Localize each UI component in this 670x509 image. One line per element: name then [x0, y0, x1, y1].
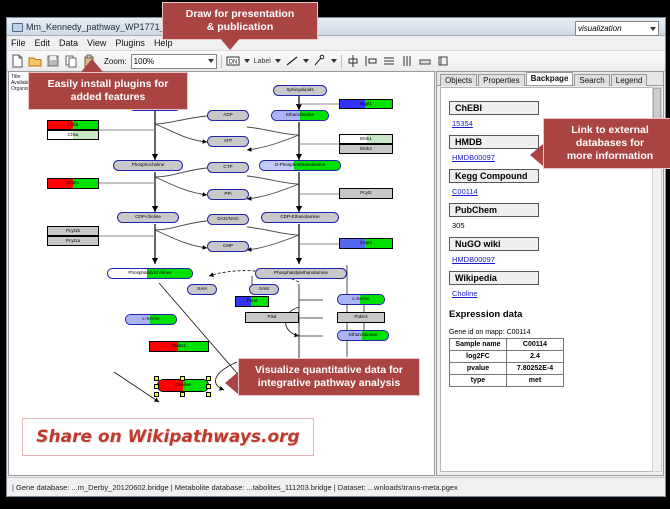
node-ethanolamine-top[interactable]: Ethanolamine — [271, 110, 329, 121]
node-label: Chka — [68, 133, 79, 138]
node-sphingolipids[interactable]: Sphingolipids — [273, 85, 327, 96]
node-pisd[interactable]: Pisd — [245, 312, 299, 323]
callout-links-line1: Link to external — [552, 124, 668, 137]
node-label: CTP — [223, 165, 232, 170]
menu-item-plugins[interactable]: Plugins — [115, 38, 145, 48]
menu-item-view[interactable]: View — [87, 38, 106, 48]
align-icon[interactable] — [346, 54, 360, 68]
link-wikipedia[interactable]: Choline — [452, 289, 644, 298]
node-ppi[interactable]: PPi — [207, 189, 249, 200]
callout-draw-arrow — [219, 37, 241, 50]
callout-plugins-line1: Easily install plugins for — [37, 78, 179, 91]
datanode-icon[interactable]: DN — [226, 54, 240, 68]
node-label: Phosphocholine — [132, 163, 165, 168]
toolbar-separator-2 — [341, 55, 342, 68]
table-row: type met — [450, 375, 564, 387]
node-ptdss1[interactable]: Ptdss1 — [149, 341, 209, 352]
cell-key: log2FC — [450, 351, 507, 363]
cell-key: pvalue — [450, 363, 507, 375]
tab-backpage[interactable]: Backpage — [526, 72, 574, 85]
group-icon[interactable] — [400, 54, 414, 68]
node-label: L-Serine — [352, 297, 369, 302]
node-phosphatidylethanolamine[interactable]: Phosphatidylethanolamine — [255, 268, 347, 279]
node-label: CMP — [223, 244, 233, 249]
node-label: CDP-choline — [135, 215, 161, 220]
datanode-chevron-down-icon[interactable] — [244, 59, 250, 63]
label-tool-icon[interactable]: Label — [254, 58, 271, 65]
callout-visualize-line2: integrative pathway analysis — [247, 377, 411, 390]
node-label: Cept1 — [360, 241, 372, 246]
callout-share: Share on Wikipathways.org — [22, 418, 314, 456]
tab-legend[interactable]: Legend — [611, 74, 648, 86]
node-label: Pisd — [268, 315, 277, 320]
pathway-canvas[interactable]: Title: Availability: Organism: — [8, 71, 435, 476]
callout-plugins: Easily install plugins for added feature… — [28, 72, 188, 110]
node-pcyt2[interactable]: Pcyt2 — [339, 188, 393, 199]
node-cept1[interactable]: Cept1 — [339, 238, 393, 249]
node-chpt1[interactable]: Chpt1 — [47, 178, 99, 189]
toolbar: Zoom: 100% DN Label visualization — [7, 51, 665, 72]
section-header-nugo: NuGO wiki — [449, 237, 539, 251]
node-label: CDP-Ethanolamine — [280, 215, 319, 220]
expression-data-heading: Expression data — [449, 309, 644, 320]
expression-table: Sample name C00114 log2FC 2.4 pvalue 7.8… — [449, 338, 564, 387]
section-header-chebi: ChEBI — [449, 101, 539, 115]
node-label: Chkb — [68, 123, 79, 128]
table-row: Sample name C00114 — [450, 339, 564, 351]
copy-icon[interactable] — [64, 54, 78, 68]
node-label: Pcyt2 — [360, 191, 372, 196]
new-file-icon[interactable] — [10, 54, 24, 68]
node-label: Pemt — [247, 299, 258, 304]
node-sah[interactable]: SAH — [187, 284, 217, 295]
node-label: Etnk2 — [360, 147, 372, 152]
value-pubchem: 305 — [452, 221, 644, 230]
cell-value: C00114 — [507, 339, 564, 351]
section-header-kegg: Kegg Compound — [449, 169, 539, 183]
node-sam[interactable]: SAM — [249, 284, 279, 295]
menu-item-edit[interactable]: Edit — [35, 38, 51, 48]
node-label: SAH — [197, 287, 206, 292]
node-label: ATP — [224, 139, 233, 144]
anchor-chevron-down-icon[interactable] — [331, 59, 337, 63]
node-phosphatidylcholines[interactable]: Phosphatidylcholines — [107, 268, 193, 279]
section-header-pubchem: PubChem — [449, 203, 539, 217]
callout-visualize-arrow-left — [225, 372, 238, 394]
node-label: Sphingolipids — [286, 88, 313, 93]
node-label: ADP — [223, 113, 232, 118]
title-bar: Mm_Kennedy_pathway_WP1771_45176.gpml — [7, 18, 665, 36]
callout-links-line2: databases for — [552, 137, 668, 150]
zoom-label: Zoom: — [104, 57, 127, 66]
callout-plugins-arrow — [81, 59, 103, 72]
line-chevron-down-icon[interactable] — [303, 59, 309, 63]
node-chkb[interactable]: Chkb — [47, 120, 99, 130]
callout-plugins-line2: added features — [37, 91, 179, 104]
visualization-value: visualization — [578, 24, 622, 33]
menu-item-file[interactable]: File — [11, 38, 26, 48]
link-kegg[interactable]: C00114 — [452, 187, 644, 196]
save-icon[interactable] — [46, 54, 60, 68]
node-cdp-choline[interactable]: CDP-choline — [117, 212, 179, 223]
node-label: Ptdsr2 — [354, 315, 367, 320]
node-adp[interactable]: ADP — [207, 110, 249, 121]
node-label: Ethanolamine — [286, 113, 314, 118]
menu-item-data[interactable]: Data — [59, 38, 78, 48]
cell-value: 2.4 — [507, 351, 564, 363]
node-label: Ethanolamine — [349, 333, 377, 338]
callout-draw-line2: & publication — [171, 21, 309, 34]
node-label: L-Serine — [142, 317, 159, 322]
callout-visualize-line1: Visualize quantitative data for — [247, 364, 411, 377]
node-l-serine-right[interactable]: L-Serine — [337, 294, 385, 305]
callout-links-line3: more information — [552, 150, 668, 163]
node-etnk2[interactable]: Etnk2 — [339, 144, 393, 154]
node-phosphocholine[interactable]: Phosphocholine — [113, 160, 183, 171]
node-label: Etnk1 — [360, 137, 372, 142]
node-cdp-ethanolamine[interactable]: CDP-Ethanolamine — [261, 212, 339, 223]
node-label: Sgpl1 — [360, 102, 372, 107]
node-label: Phosphatidylcholines — [128, 271, 171, 276]
line-icon[interactable] — [285, 54, 299, 68]
zoom-combobox[interactable]: 100% — [131, 54, 217, 69]
callout-draw-line1: Draw for presentation — [171, 8, 309, 21]
node-label: SAM — [259, 287, 269, 292]
table-row: pvalue 7.80252E-4 — [450, 363, 564, 375]
zoom-value: 100% — [134, 57, 154, 66]
node-ptdsr2[interactable]: Ptdsr2 — [337, 312, 385, 323]
open-folder-icon[interactable] — [28, 54, 42, 68]
tab-properties[interactable]: Properties — [478, 74, 524, 86]
node-etnk1[interactable]: Etnk1 — [339, 134, 393, 144]
cell-value: 7.80252E-4 — [507, 363, 564, 375]
visualization-combobox[interactable]: visualization — [575, 21, 659, 36]
chevron-down-icon — [208, 59, 214, 63]
node-label: PPi — [224, 192, 231, 197]
node-sgpl1[interactable]: Sgpl1 — [339, 99, 393, 109]
order-icon[interactable] — [418, 54, 432, 68]
node-pemt[interactable]: Pemt — [235, 296, 269, 307]
toolbar-separator — [221, 55, 222, 68]
node-ethanolamine-bottom[interactable]: Ethanolamine — [337, 330, 389, 341]
callout-draw: Draw for presentation & publication — [162, 2, 318, 40]
node-atp[interactable]: ATP — [207, 136, 249, 147]
status-text: | Gene database: ...m_Derby_20120602.bri… — [12, 483, 458, 492]
node-dag-nag[interactable]: DAG/NAG — [207, 214, 249, 225]
node-l-serine-left[interactable]: L-Serine — [125, 314, 177, 325]
node-pcyt1b[interactable]: Pcyt1b — [47, 226, 99, 236]
pathvisio-icon — [11, 21, 22, 32]
visualization-chevron-down-icon — [650, 27, 656, 31]
callout-links-arrow — [530, 144, 543, 166]
node-pcyt1a[interactable]: Pcyt1a — [47, 236, 99, 246]
node-cmp[interactable]: CMP — [207, 241, 249, 252]
status-bar: | Gene database: ...m_Derby_20120602.bri… — [7, 477, 665, 496]
node-label: O-Phosphoethanolamine — [275, 163, 326, 168]
tab-search[interactable]: Search — [574, 74, 609, 86]
node-label: Pcyt1b — [66, 229, 80, 234]
node-label: Ptdss1 — [172, 344, 186, 349]
node-ctp[interactable]: CTP — [207, 162, 249, 173]
menu-bar: File Edit Data View Plugins Help — [7, 36, 665, 51]
cell-key: Sample name — [450, 339, 507, 351]
callout-share-text: Share on Wikipathways.org — [36, 427, 299, 447]
tab-objects[interactable]: Objects — [440, 74, 477, 86]
layer-icon[interactable] — [436, 54, 450, 68]
node-label: DAG/NAG — [217, 217, 238, 222]
node-label: Phosphatidylethanolamine — [274, 271, 328, 276]
callout-visualize-arrow-right — [403, 373, 416, 393]
section-header-hmdb: HMDB — [449, 135, 539, 149]
node-label: Choline — [175, 383, 191, 388]
stack-icon[interactable] — [382, 54, 396, 68]
node-chka[interactable]: Chka — [47, 130, 99, 140]
side-panel-tabs: Objects Properties Backpage Search Legen… — [437, 72, 663, 86]
screenshot-root: Mm_Kennedy_pathway_WP1771_45176.gpml Fil… — [0, 0, 670, 509]
cell-value: met — [507, 375, 564, 387]
anchor-icon[interactable] — [313, 54, 327, 68]
table-row: log2FC 2.4 — [450, 351, 564, 363]
gene-id-line: Gene id on mapp: C00114 — [449, 329, 644, 336]
distribute-icon[interactable] — [364, 54, 378, 68]
node-label: Pcyt1a — [66, 239, 80, 244]
node-o-phosphoethanolamine[interactable]: O-Phosphoethanolamine — [259, 160, 341, 171]
label-chevron-down-icon[interactable] — [275, 59, 281, 63]
node-label: Chpt1 — [67, 181, 79, 186]
svg-text:DN: DN — [228, 60, 237, 66]
link-nugo[interactable]: HMDB00097 — [452, 255, 644, 264]
section-header-wikipedia: Wikipedia — [449, 271, 539, 285]
callout-links: Link to external databases for more info… — [543, 118, 670, 169]
callout-visualize: Visualize quantitative data for integrat… — [238, 358, 420, 396]
cell-key: type — [450, 375, 507, 387]
